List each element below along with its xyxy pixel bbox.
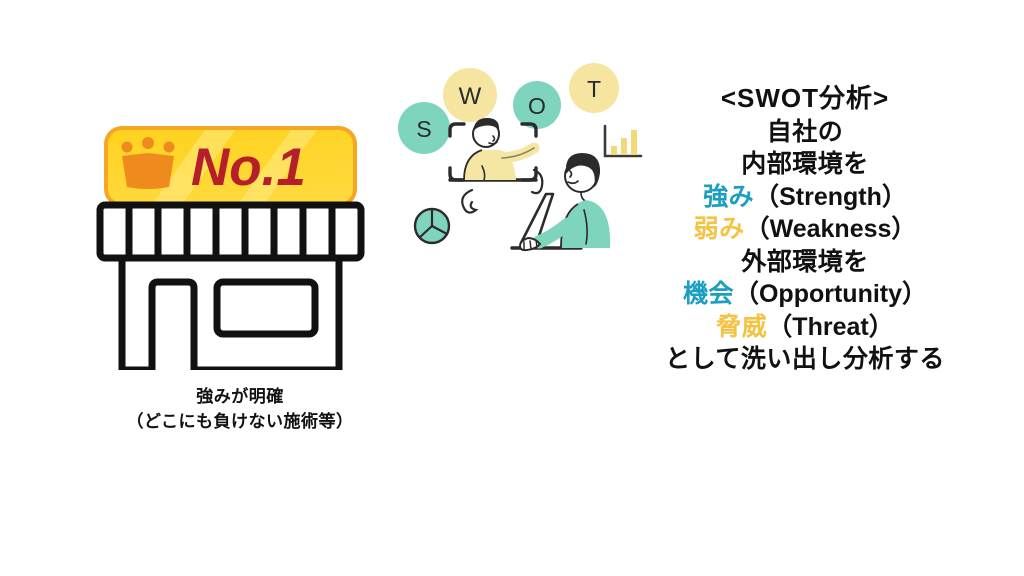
swot-keyword-threat: 脅威: [716, 313, 767, 341]
swot-text-block: <SWOT分析> 自社の 内部環境を 強み（Strength） 弱み（Weakn…: [640, 82, 970, 376]
swot-line-conclusion: として洗い出し分析する: [640, 343, 970, 376]
store-caption-line-1: 強みが明確: [40, 385, 440, 410]
people-illustration: S W O T: [398, 58, 663, 283]
store-signboard: No.1: [104, 126, 357, 207]
swot-line-external-env: 外部環境を: [640, 246, 970, 279]
letter-badge-o: O: [513, 81, 561, 129]
swot-line-internal-env: 内部環境を: [640, 148, 970, 181]
letter-badge-t: T: [569, 63, 619, 113]
swot-keyword-strength: 強み: [703, 183, 754, 211]
presenter-on-screen: [464, 118, 534, 180]
store-window-shape: [217, 282, 315, 334]
swot-line-own-company: 自社の: [640, 116, 970, 149]
swot-keyword-opportunity: 機会: [683, 280, 734, 308]
letter-badge-w: W: [443, 68, 497, 122]
swot-keyword-weakness: 弱み: [694, 215, 745, 243]
store-door-shape: [152, 282, 194, 370]
swot-keyword-threat-en: （Threat）: [767, 313, 893, 341]
svg-text:O: O: [528, 93, 546, 119]
swot-title: <SWOT分析>: [640, 82, 970, 116]
svg-text:W: W: [459, 83, 482, 110]
svg-text:No.1: No.1: [191, 138, 306, 197]
swot-keyword-opportunity-en: （Opportunity）: [734, 280, 927, 308]
store-sign-label: No.1: [191, 138, 306, 197]
store-body: [122, 258, 339, 370]
pie-chart-icon: [415, 209, 449, 243]
swot-line-opportunity: 機会（Opportunity）: [640, 278, 970, 311]
store-awning: [100, 205, 361, 258]
letter-badge-s: S: [398, 102, 450, 154]
swot-line-strength: 強み（Strength）: [640, 181, 970, 214]
store-caption: 強みが明確 （どこにも負けない施術等）: [40, 385, 440, 434]
swot-line-weakness: 弱み（Weakness）: [640, 213, 970, 246]
crown-icon: [122, 137, 175, 189]
swot-line-threat: 脅威（Threat）: [640, 311, 970, 344]
swot-keyword-strength-en: （Strength）: [754, 183, 907, 211]
store-illustration: No.1: [95, 120, 380, 370]
store-caption-line-2: （どこにも負けない施術等）: [40, 410, 440, 435]
swot-keyword-weakness-en: （Weakness）: [745, 215, 917, 243]
svg-text:S: S: [416, 116, 431, 142]
svg-text:T: T: [587, 76, 601, 102]
slide-canvas: No.1: [0, 0, 1024, 576]
bar-chart-icon: [605, 126, 641, 156]
